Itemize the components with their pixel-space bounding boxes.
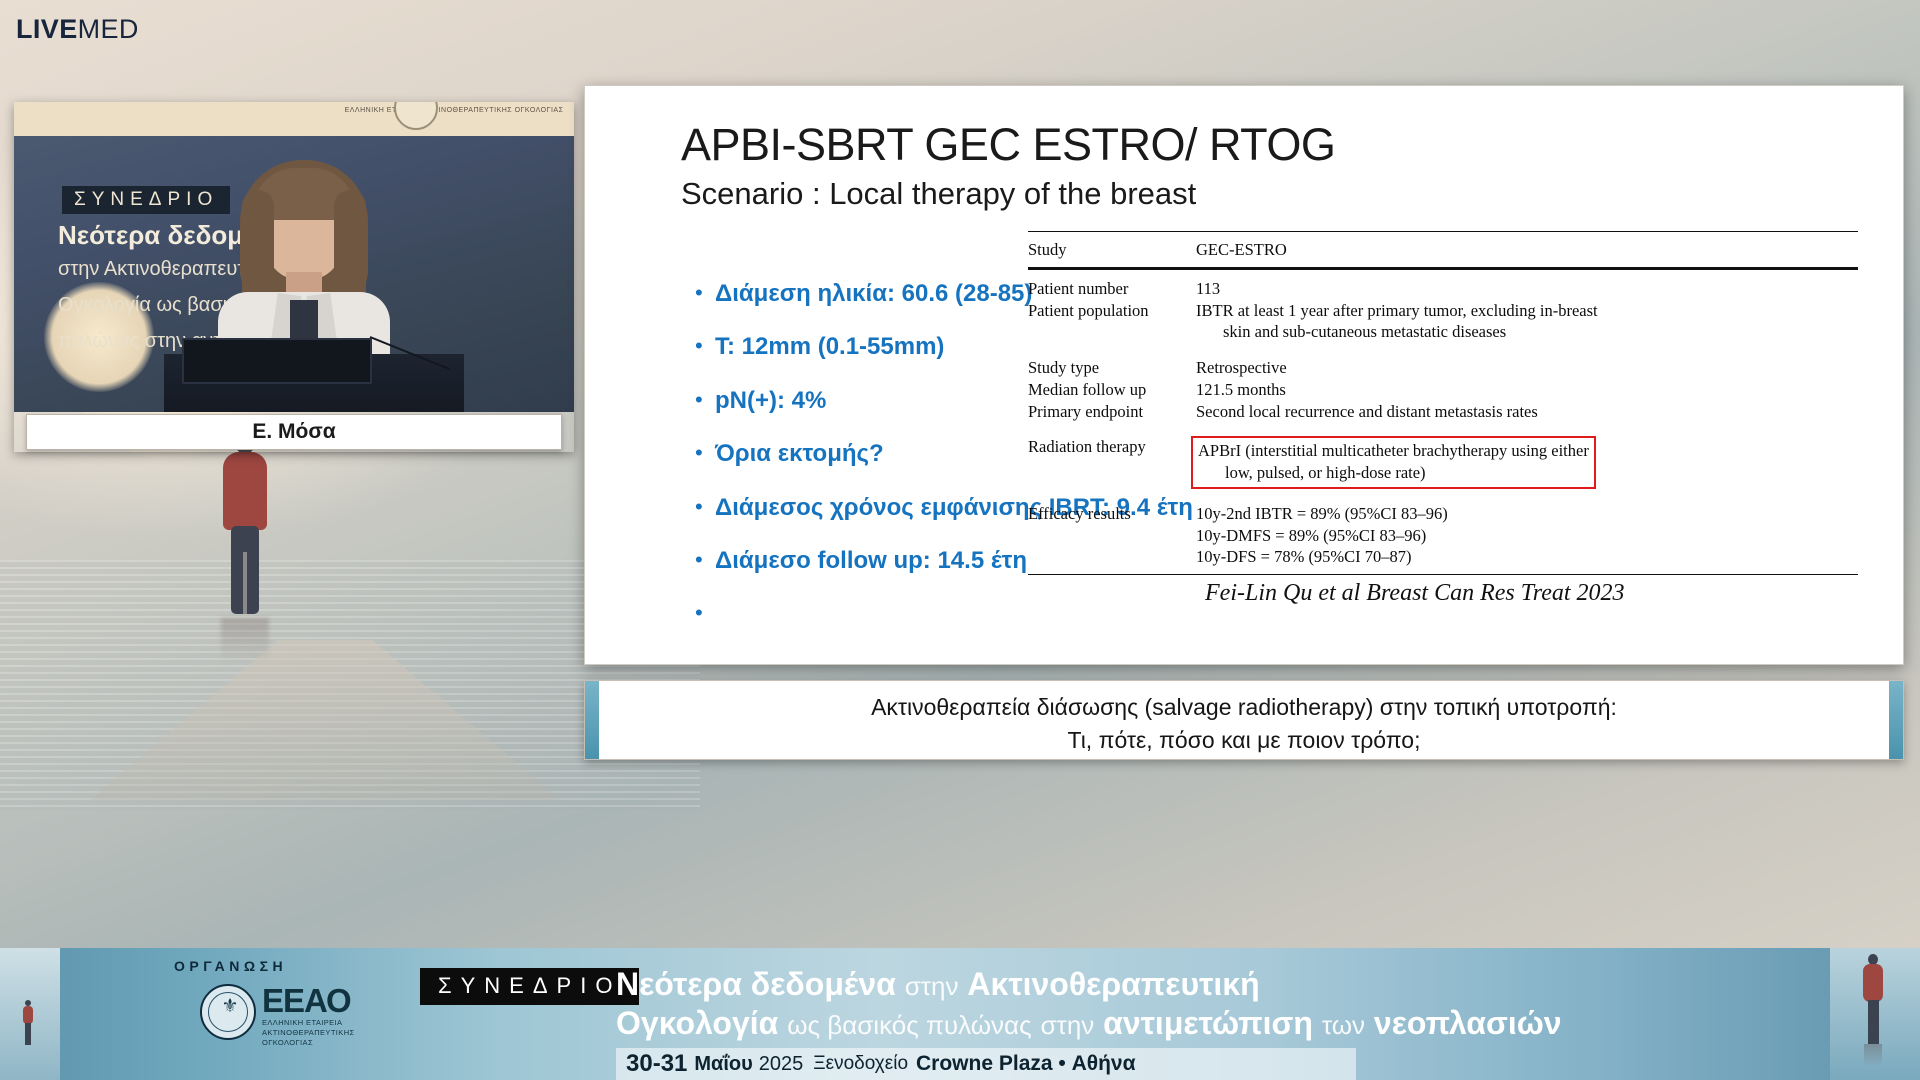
row-value: 121.5 months bbox=[1196, 379, 1858, 401]
bullet-text: T: 12mm (0.1-55mm) bbox=[715, 334, 944, 360]
footer-title-2c: στην bbox=[1041, 1010, 1095, 1040]
row-value: 10y-2nd IBTR = 89% (95%CI 83–96) 10y-DMF… bbox=[1196, 503, 1858, 568]
footer-title-1b: στην bbox=[905, 971, 959, 1001]
table-row: Primary endpoint Second local recurrence… bbox=[1028, 401, 1858, 423]
caption-line-1: Ακτινοθεραπεία διάσωσης (salvage radioth… bbox=[605, 691, 1883, 724]
footer-art-right bbox=[1830, 948, 1920, 1080]
table-spacer bbox=[1028, 343, 1858, 357]
laptop-icon bbox=[182, 338, 372, 384]
society-sub-line-2: ΑΚΤΙΝΟΘΕΡΑΠΕΥΤΙΚΗΣ bbox=[262, 1028, 355, 1038]
table-row: Patient number 113 bbox=[1028, 278, 1858, 300]
bullet-dot-icon: • bbox=[695, 334, 715, 357]
bullet-text: pN(+): 4% bbox=[715, 388, 826, 414]
table-body: Patient number 113 Patient population IB… bbox=[1028, 270, 1858, 568]
society-sub-line-3: ΟΓΚΟΛΟΓΙΑΣ bbox=[262, 1038, 355, 1048]
bullet-text: Όρια εκτομής? bbox=[715, 441, 884, 467]
footer-art-left bbox=[0, 948, 60, 1080]
society-logo: ⚜ ΕΕΑΟ ΕΛΛΗΝΙΚΗ ΕΤΑΙΡΕΙΑ ΑΚΤΙΝΟΘΕΡΑΠΕΥΤΙ… bbox=[200, 982, 390, 1048]
presentation-slide[interactable]: APBI-SBRT GEC ESTRO/ RTOG Scenario : Loc… bbox=[584, 85, 1904, 665]
society-mark: ΕΕΑΟ bbox=[262, 982, 351, 1020]
row-key: Radiation therapy bbox=[1028, 436, 1196, 458]
row-value-line1: APBrI (interstitial multicatheter brachy… bbox=[1198, 441, 1589, 460]
row-value: Retrospective bbox=[1196, 357, 1858, 379]
table-header-study: Study bbox=[1028, 239, 1196, 261]
row-value: APBrI (interstitial multicatheter brachy… bbox=[1196, 436, 1858, 489]
footer-venue: Crowne Plaza • Αθήνα bbox=[916, 1052, 1136, 1076]
footer-date-year: 2025 bbox=[759, 1053, 804, 1076]
society-seal-icon: ⚜ bbox=[200, 984, 256, 1040]
bullet-dot-icon: • bbox=[695, 495, 715, 518]
slide-citation: Fei-Lin Qu et al Breast Can Res Treat 20… bbox=[1205, 580, 1625, 607]
row-key: Study type bbox=[1028, 357, 1196, 379]
footer-title-2e: των bbox=[1322, 1010, 1365, 1040]
caption-accent-left bbox=[585, 681, 599, 759]
organization-label: ΟΡΓΑΝΩΣΗ bbox=[174, 958, 287, 974]
stage-banner-strip: ΕΛΛΗΝΙΚΗ ΕΤΑΙΡΕΙΑ ΑΚΤΙΝΟΘΕΡΑΠΕΥΤΙΚΗΣ ΟΓΚ… bbox=[14, 102, 574, 136]
table-spacer bbox=[1028, 489, 1858, 503]
footer-venue-prefix: Ξενοδοχείο bbox=[813, 1053, 908, 1075]
footer-title-2d: αντιμετώπιση bbox=[1103, 1005, 1313, 1041]
efficacy-line-2: 10y-DMFS = 89% (95%CI 83–96) bbox=[1196, 525, 1858, 547]
society-subtitle: ΕΛΛΗΝΙΚΗ ΕΤΑΙΡΕΙΑ ΑΚΤΙΝΟΘΕΡΑΠΕΥΤΙΚΗΣ ΟΓΚ… bbox=[262, 1018, 355, 1048]
top-bar: LIVEMED bbox=[0, 0, 1920, 56]
efficacy-line-3: 10y-DFS = 78% (95%CI 70–87) bbox=[1196, 546, 1858, 568]
footer-title-line-1: Νεότερα δεδομένα στην Ακτινοθεραπευτική bbox=[616, 966, 1260, 1003]
bullet-text: Διάμεσο follow up: 14.5 έτη bbox=[715, 548, 1027, 574]
table-row: Patient population IBTR at least 1 year … bbox=[1028, 300, 1858, 344]
caption-accent-right bbox=[1889, 681, 1903, 759]
footer-title-1a: Νεότερα δεδομένα bbox=[616, 966, 896, 1002]
table-header-row: Study GEC-ESTRO bbox=[1028, 232, 1858, 267]
footer-title-2a: Ογκολογία bbox=[616, 1005, 778, 1041]
footer-title-1c: Ακτινοθεραπευτική bbox=[967, 966, 1259, 1002]
caption-line-2: Τι, πότε, πόσο και με ποιον τρόπο; bbox=[605, 724, 1883, 757]
footer-date-day: 30-31 bbox=[626, 1050, 687, 1078]
table-row-efficacy: Efficacy results 10y-2nd IBTR = 89% (95%… bbox=[1028, 503, 1858, 568]
footer-title-2b: ως βασικός πυλώνας bbox=[787, 1010, 1031, 1040]
table-header-value: GEC-ESTRO bbox=[1196, 239, 1858, 261]
row-value-line1: IBTR at least 1 year after primary tumor… bbox=[1196, 301, 1598, 320]
session-caption-bar: Ακτινοθεραπεία διάσωσης (salvage radioth… bbox=[584, 680, 1904, 760]
livemed-logo[interactable]: LIVEMED bbox=[16, 16, 139, 43]
footer-date-venue-bar: 30-31 Μαΐου 2025 Ξενοδοχείο Crowne Plaza… bbox=[616, 1048, 1356, 1080]
row-value: Second local recurrence and distant meta… bbox=[1196, 401, 1858, 423]
bullet-dot-icon: • bbox=[695, 601, 715, 624]
list-item: • bbox=[695, 601, 1215, 624]
background-figure-icon bbox=[213, 432, 277, 662]
conference-footer-banner: ΟΡΓΑΝΩΣΗ ⚜ ΕΕΑΟ ΕΛΛΗΝΙΚΗ ΕΤΑΙΡΕΙΑ ΑΚΤΙΝΟ… bbox=[0, 948, 1920, 1080]
efficacy-line-1: 10y-2nd IBTR = 89% (95%CI 83–96) bbox=[1196, 503, 1858, 525]
table-row-radiation-therapy: Radiation therapy APBrI (interstitial mu… bbox=[1028, 436, 1858, 489]
stage-banner-org-text: ΕΛΛΗΝΙΚΗ ΕΤΑΙΡΕΙΑ ΑΚΤΙΝΟΘΕΡΑΠΕΥΤΙΚΗΣ ΟΓΚ… bbox=[344, 106, 564, 115]
bullet-text: Διάμεση ηλικία: 60.6 (28-85) bbox=[715, 281, 1032, 307]
study-summary-table: Study GEC-ESTRO Patient number 113 Patie… bbox=[1028, 231, 1858, 575]
caption-text: Ακτινοθεραπεία διάσωσης (salvage radioth… bbox=[605, 691, 1883, 756]
table-spacer bbox=[1028, 422, 1858, 436]
speaker-video-panel[interactable]: ΕΛΛΗΝΙΚΗ ΕΤΑΙΡΕΙΑ ΑΚΤΙΝΟΘΕΡΑΠΕΥΤΙΚΗΣ ΟΓΚ… bbox=[14, 102, 574, 452]
speaker-name: Ε. Μόσα bbox=[252, 420, 335, 444]
speaker-name-bar: Ε. Μόσα bbox=[26, 414, 562, 450]
logo-bold-part: LIVE bbox=[16, 14, 78, 44]
table-row: Study type Retrospective bbox=[1028, 357, 1858, 379]
slide-subtitle: Scenario : Local therapy of the breast bbox=[681, 176, 1196, 212]
congress-badge: ΣΥΝΕΔΡΙΟ bbox=[420, 968, 639, 1005]
table-rule-bottom bbox=[1028, 574, 1858, 575]
society-sub-line-1: ΕΛΛΗΝΙΚΗ ΕΤΑΙΡΕΙΑ bbox=[262, 1018, 355, 1028]
highlight-box: APBrI (interstitial multicatheter brachy… bbox=[1191, 436, 1596, 489]
row-value: 113 bbox=[1196, 278, 1858, 300]
bullet-dot-icon: • bbox=[695, 548, 715, 571]
video-feed[interactable]: ΕΛΛΗΝΙΚΗ ΕΤΑΙΡΕΙΑ ΑΚΤΙΝΟΘΕΡΑΠΕΥΤΙΚΗΣ ΟΓΚ… bbox=[14, 102, 574, 412]
bullet-dot-icon: • bbox=[695, 281, 715, 304]
footer-date-month: Μαΐου bbox=[694, 1053, 752, 1076]
bullet-dot-icon: • bbox=[695, 441, 715, 464]
row-value-line2: low, pulsed, or high-dose rate) bbox=[1198, 462, 1589, 484]
footer-title-2f: νεοπλασιών bbox=[1374, 1005, 1562, 1041]
footer-title-line-2: Ογκολογία ως βασικός πυλώνας στην αντιμε… bbox=[616, 1005, 1562, 1042]
row-key: Patient population bbox=[1028, 300, 1196, 322]
slide-title: APBI-SBRT GEC ESTRO/ RTOG bbox=[681, 119, 1335, 171]
row-key: Median follow up bbox=[1028, 379, 1196, 401]
row-key: Efficacy results bbox=[1028, 503, 1196, 525]
row-key: Patient number bbox=[1028, 278, 1196, 300]
row-value: IBTR at least 1 year after primary tumor… bbox=[1196, 300, 1858, 344]
table-row: Median follow up 121.5 months bbox=[1028, 379, 1858, 401]
row-key: Primary endpoint bbox=[1028, 401, 1196, 423]
bullet-dot-icon: • bbox=[695, 388, 715, 411]
row-value-line2: skin and sub-cutaneous metastatic diseas… bbox=[1196, 321, 1858, 343]
logo-light-part: MED bbox=[78, 14, 139, 44]
